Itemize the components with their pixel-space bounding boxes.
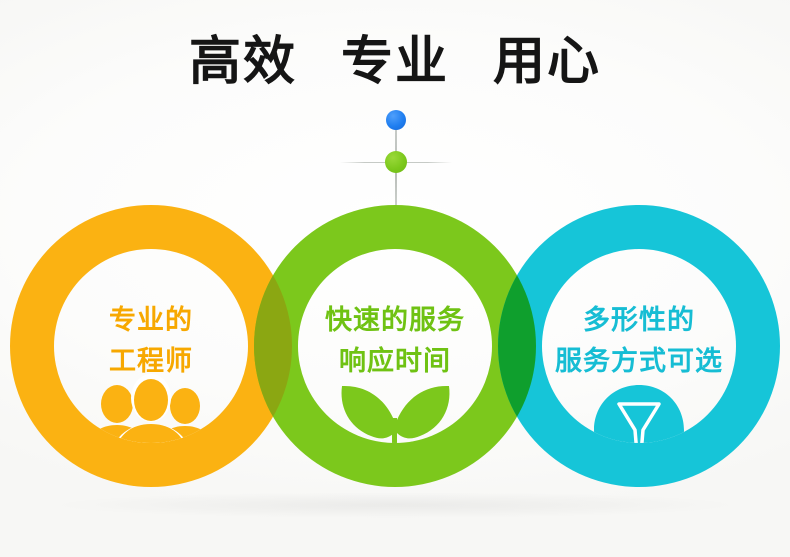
ground-shadow <box>60 492 730 518</box>
venn-diagram <box>0 0 790 557</box>
venn-overlap-green-cyan <box>0 0 790 557</box>
promo-poster: 高效专业用心 <box>0 0 790 557</box>
